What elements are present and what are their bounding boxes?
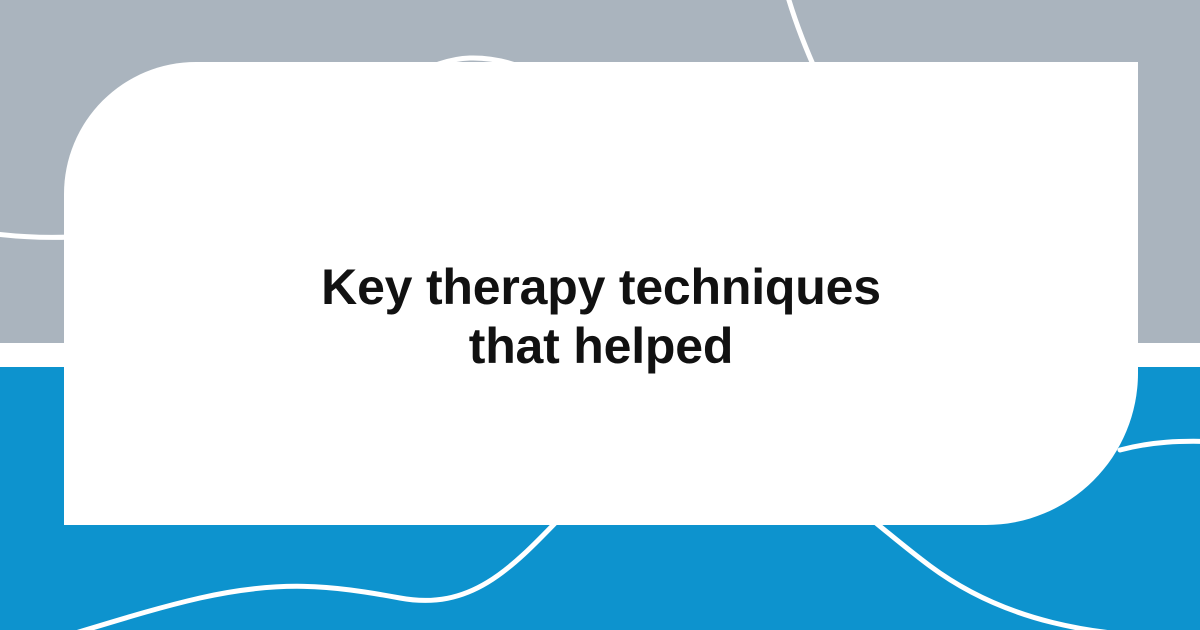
social-card-canvas: Key therapy techniques that helped: [0, 0, 1200, 630]
page-title: Key therapy techniques that helped: [64, 258, 1138, 376]
